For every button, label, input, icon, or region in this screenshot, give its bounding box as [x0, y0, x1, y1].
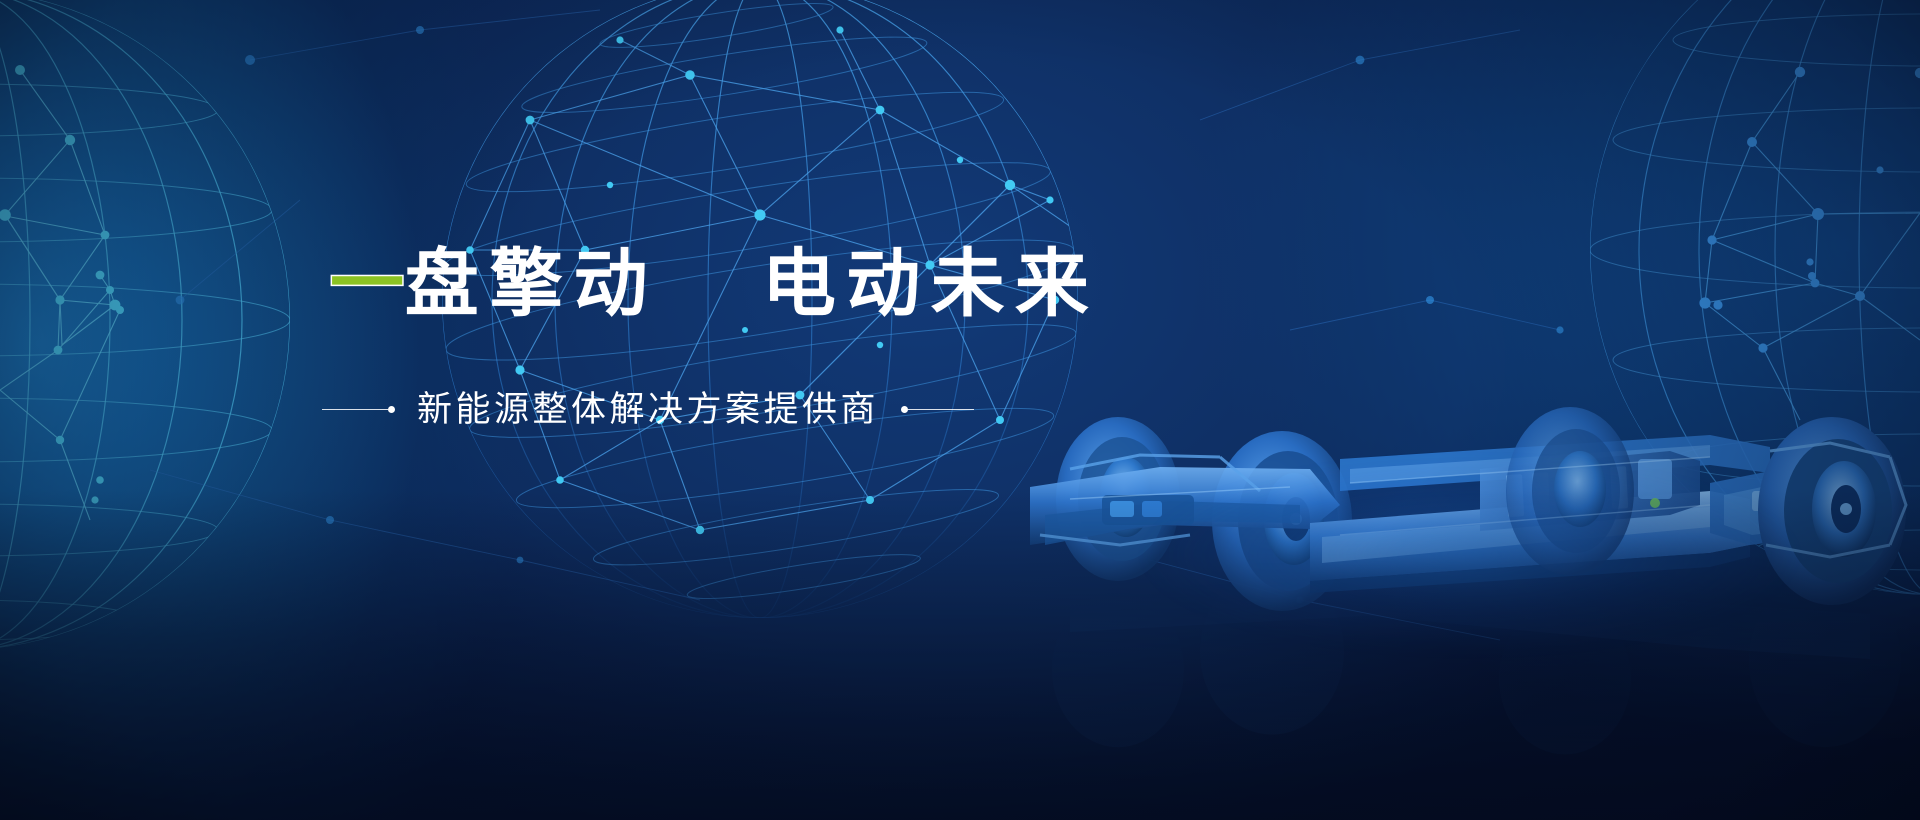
subtitle-rule-left	[322, 409, 388, 410]
ev-chassis-graphic	[1010, 395, 1920, 820]
subtitle-row: 新能源整体解决方案提供商	[322, 392, 1212, 427]
subtitle-dot-left	[388, 406, 395, 413]
headline-block: 一 盘擎动 电动未来 一盘擎动 电动未来	[330, 238, 1200, 330]
hero-banner: 一 盘擎动 电动未来 一盘擎动 电动未来 新能源整体解决方案提供商	[0, 0, 1920, 820]
headline-accent-char: 一	[330, 247, 405, 321]
subtitle-text: 新能源整体解决方案提供商	[395, 392, 901, 427]
subtitle-dot-right	[901, 406, 908, 413]
subtitle-rule-right	[908, 409, 974, 410]
headline: 一 盘擎动 电动未来	[330, 238, 1200, 330]
headline-first-phrase: 盘擎动	[405, 247, 658, 321]
headline-second-phrase: 电动未来	[762, 247, 1099, 321]
chassis-glow	[1030, 425, 1910, 685]
